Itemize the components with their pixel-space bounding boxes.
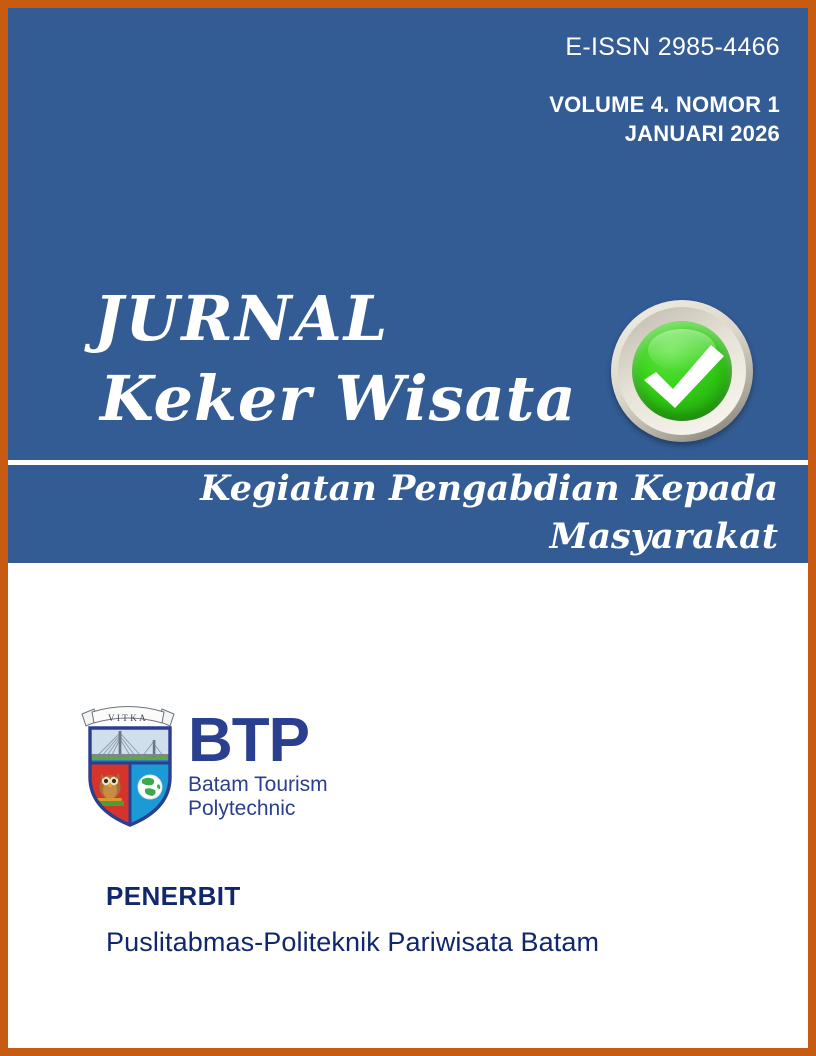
publisher-zone: VITKA xyxy=(8,563,808,1048)
btp-wordmark: BTP Batam Tourism Polytechnic xyxy=(188,715,328,820)
publisher-info: PENERBIT Puslitabmas-Politeknik Pariwisa… xyxy=(106,881,599,959)
journal-title: JURNAL Keker Wisata xyxy=(94,288,577,430)
globe-icon xyxy=(138,775,162,799)
volume-text: VOLUME 4. NOMOR 1 xyxy=(549,90,780,120)
publisher-name: Puslitabmas-Politeknik Pariwisata Batam xyxy=(106,926,599,958)
journal-title-line2: Keker Wisata xyxy=(100,368,577,430)
subtitle-line2: Masyarakat xyxy=(8,513,778,561)
journal-cover: E-ISSN 2985-4466 VOLUME 4. NOMOR 1 JANUA… xyxy=(0,0,816,1056)
subtitle-line1: Kegiatan Pengabdian Kepada xyxy=(8,465,778,513)
issue-date-text: JANUARI 2026 xyxy=(549,119,780,149)
btp-shield-icon: VITKA xyxy=(76,701,184,829)
svg-text:VITKA: VITKA xyxy=(108,713,148,723)
btp-tagline: Batam Tourism Polytechnic xyxy=(188,773,328,820)
btp-logo: VITKA xyxy=(76,701,328,829)
issue-meta: E-ISSN 2985-4466 VOLUME 4. NOMOR 1 JANUA… xyxy=(549,34,780,149)
subtitle-band: Kegiatan Pengabdian Kepada Masyarakat xyxy=(8,465,808,563)
green-check-badge-icon xyxy=(611,300,753,442)
vitka-ribbon: VITKA xyxy=(82,707,174,727)
journal-title-line1: JURNAL xyxy=(94,288,577,350)
btp-acronym: BTP xyxy=(188,715,328,767)
check-mark-icon xyxy=(611,300,753,442)
publisher-label: PENERBIT xyxy=(106,881,599,912)
eissn-text: E-ISSN 2985-4466 xyxy=(549,34,780,62)
